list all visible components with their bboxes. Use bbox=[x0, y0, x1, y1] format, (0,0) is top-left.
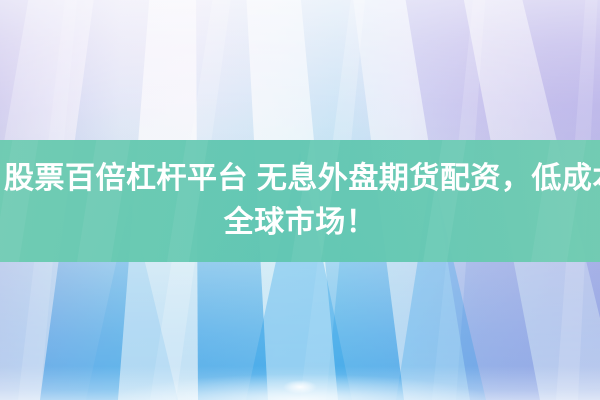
promo-banner: 股票百倍杠杆平台 无息外盘期货配资，低成本掘金 全球市场！ bbox=[0, 0, 600, 400]
headline-line-2: 全球市场！ bbox=[0, 201, 600, 245]
headline-band: 股票百倍杠杆平台 无息外盘期货配资，低成本掘金 全球市场！ bbox=[0, 140, 600, 262]
headline-line-1: 股票百倍杠杆平台 无息外盘期货配资，低成本掘金 bbox=[0, 157, 600, 201]
